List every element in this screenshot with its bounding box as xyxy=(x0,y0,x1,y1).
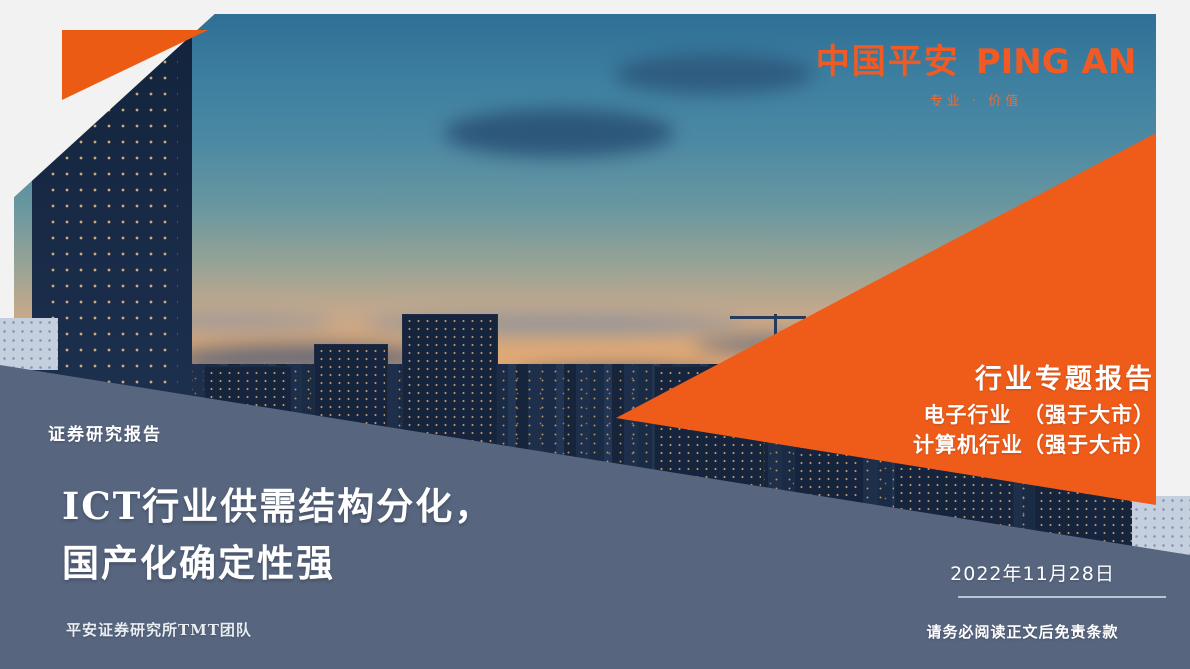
cloud-shape xyxy=(614,54,814,94)
footer-divider xyxy=(958,596,1166,598)
report-kicker: 证券研究报告 xyxy=(48,420,162,445)
report-cover-slide: 中国平安PING AN 专业 · 价值 行业专题报告 电子行业 （强于大市） 计… xyxy=(0,0,1190,669)
page-title: ICT行业供需结构分化， 国产化确定性强 xyxy=(62,478,702,593)
brand-logo: 中国平安PING AN 专业 · 价值 xyxy=(795,45,1157,109)
page-title-line2: 国产化确定性强 xyxy=(62,535,702,592)
page-title-line1: ICT行业供需结构分化， xyxy=(62,484,493,528)
crane-jib xyxy=(730,316,806,319)
disclaimer-note: 请务必阅读正文后免责条款 xyxy=(880,621,1165,642)
cloud-shape xyxy=(444,109,674,157)
brand-logo-en: PING AN xyxy=(976,42,1137,82)
brand-logo-wordmark: 中国平安PING AN xyxy=(795,45,1157,79)
dotted-texture-left xyxy=(0,318,58,370)
report-type-label: 行业专题报告 xyxy=(700,357,1155,396)
publish-date: 2022年11月28日 xyxy=(900,559,1165,586)
industry-ratings: 电子行业 （强于大市） 计算机行业（强于大市） xyxy=(700,400,1155,461)
brand-tagline: 专业 · 价值 xyxy=(795,90,1157,109)
author-team-byline: 平安证券研究所TMT团队 xyxy=(66,619,252,640)
brand-logo-cn: 中国平安 xyxy=(816,42,960,82)
